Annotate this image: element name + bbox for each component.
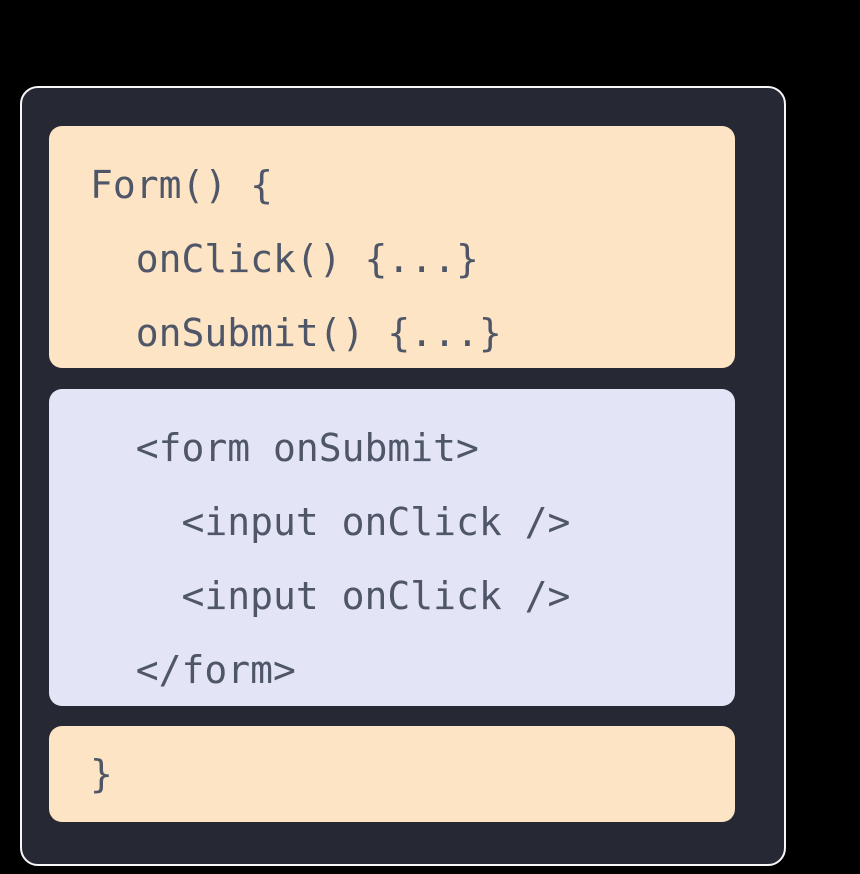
code-line: }	[49, 748, 735, 800]
code-line: </form>	[49, 633, 735, 706]
code-line: <input onClick />	[49, 485, 735, 559]
code-line: Form() {	[49, 148, 735, 222]
code-block-logic[interactable]: Form() { onClick() {...} onSubmit() {...…	[49, 126, 735, 368]
code-block-markup[interactable]: <form onSubmit> <input onClick /> <input…	[49, 389, 735, 706]
code-line: <input onClick />	[49, 559, 735, 633]
component-container: Form() { onClick() {...} onSubmit() {...…	[20, 86, 786, 866]
code-line: <form onSubmit>	[49, 411, 735, 485]
code-line: onClick() {...}	[49, 222, 735, 296]
code-line: onSubmit() {...}	[49, 296, 735, 368]
code-block-closing[interactable]: }	[49, 726, 735, 822]
diagram-canvas: Form() { onClick() {...} onSubmit() {...…	[0, 0, 860, 874]
